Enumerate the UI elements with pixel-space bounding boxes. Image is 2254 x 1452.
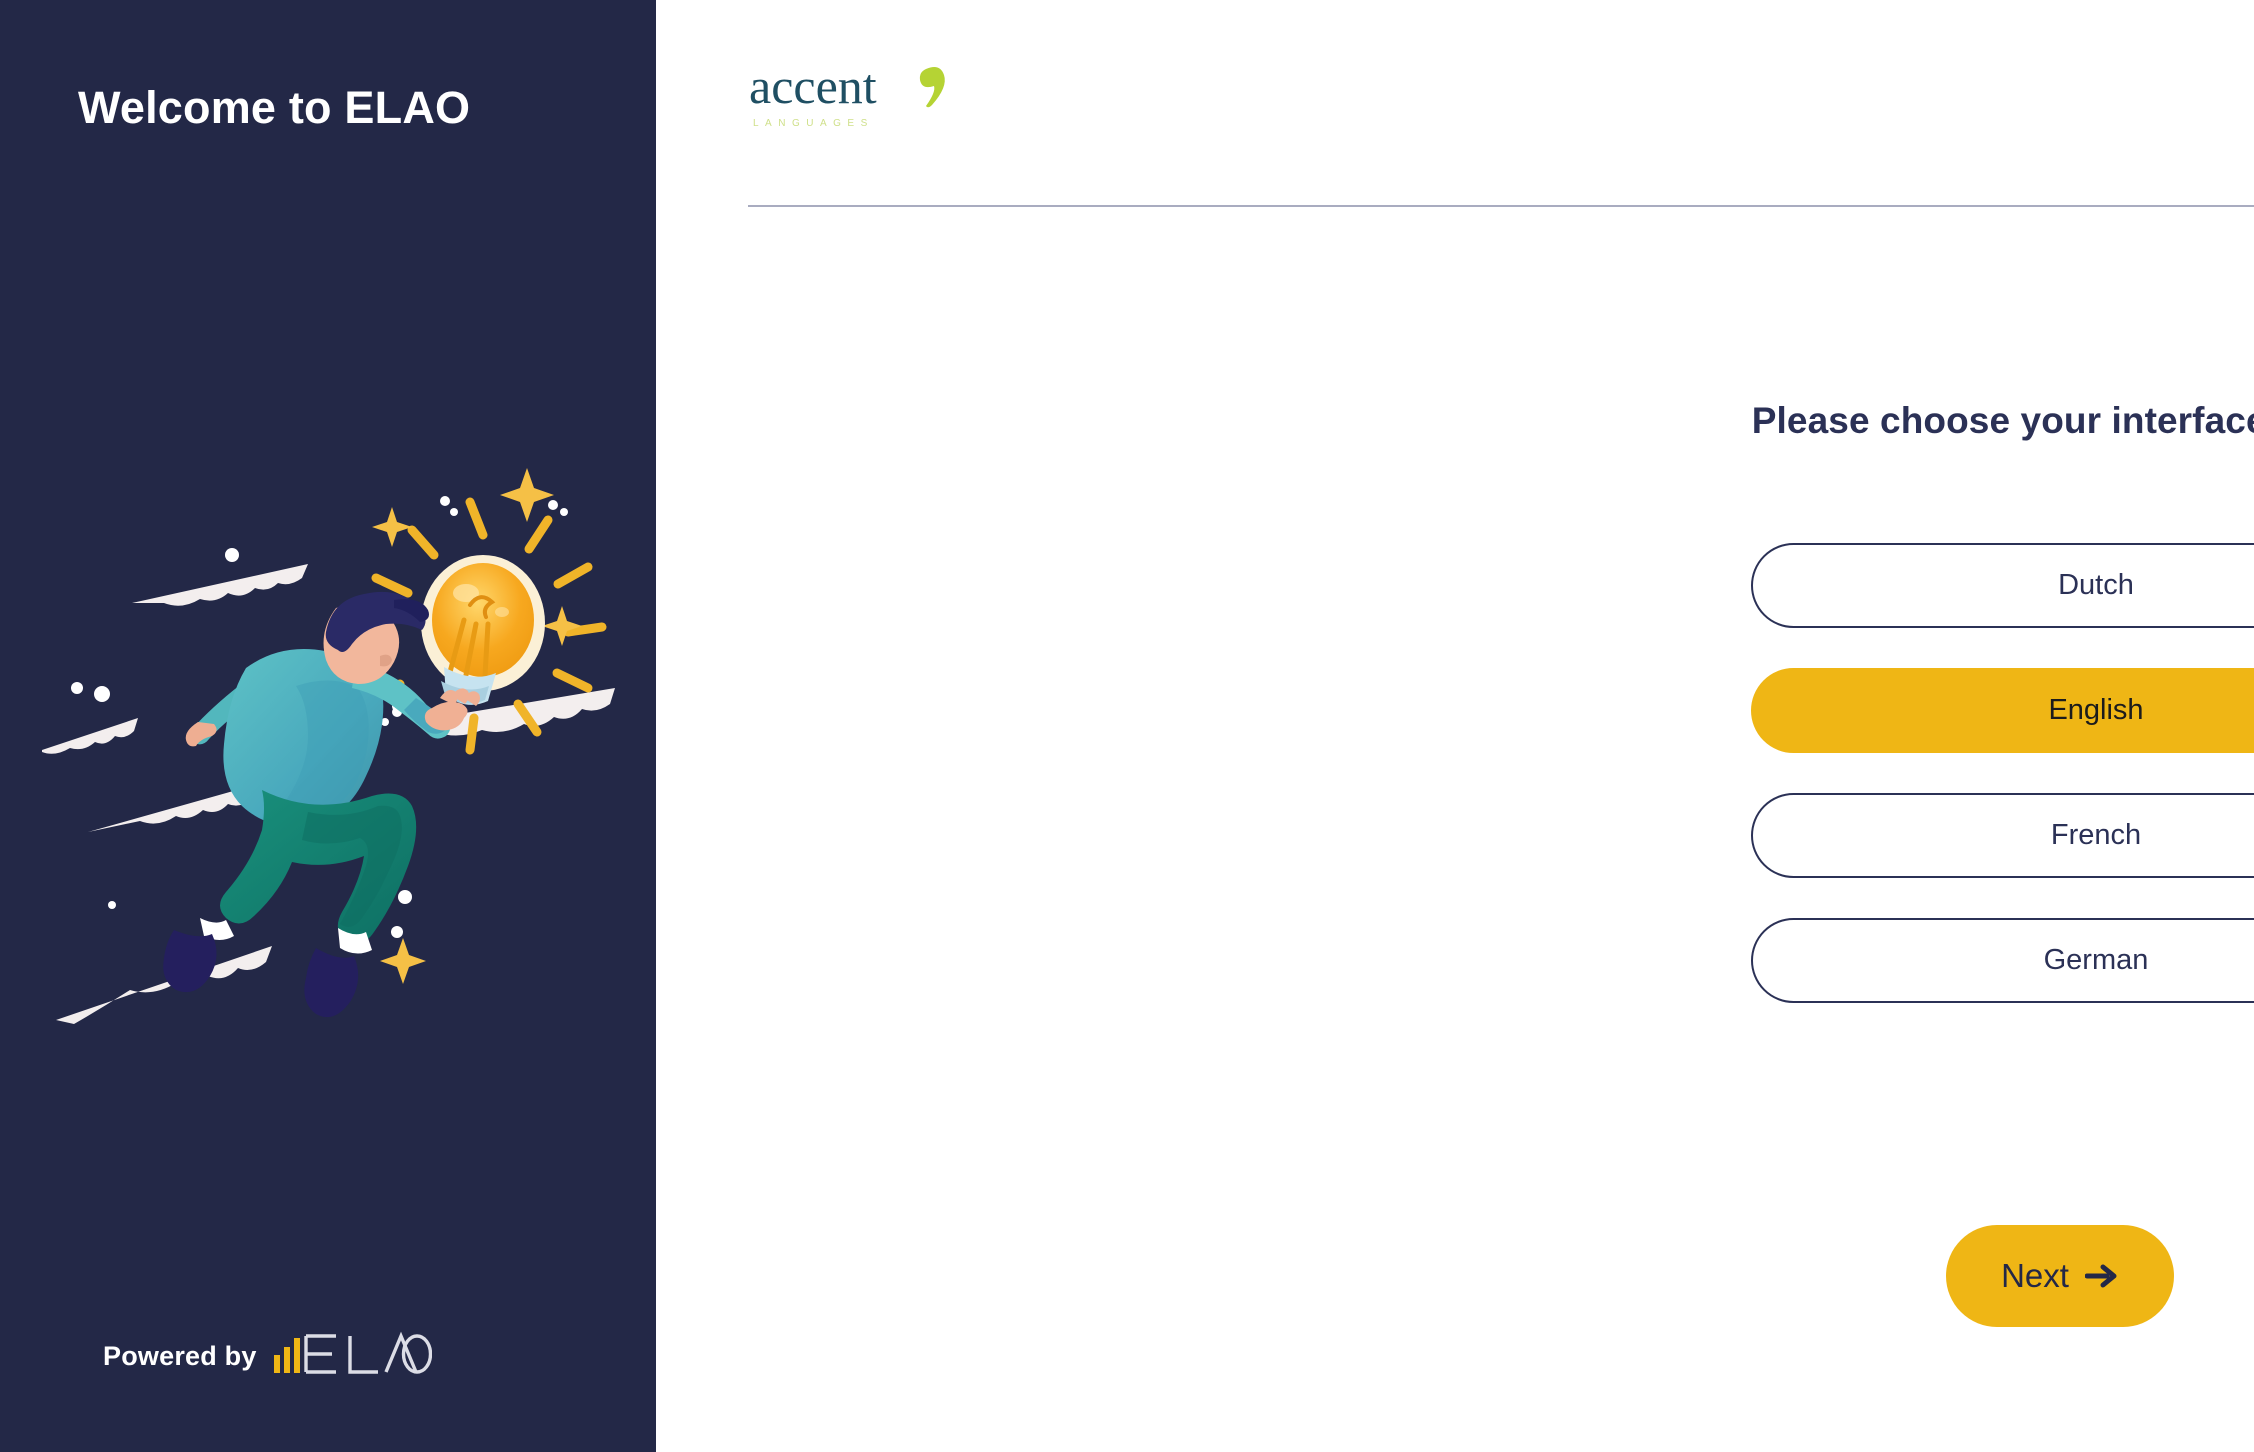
accent-languages-logo: accent LANGUAGES bbox=[749, 55, 959, 135]
header-divider bbox=[748, 205, 2254, 207]
arrow-right-icon bbox=[2085, 1261, 2119, 1291]
language-option-french[interactable]: French bbox=[1751, 793, 2254, 878]
main-panel: accent LANGUAGES Please choose your inte… bbox=[656, 0, 2254, 1452]
language-option-dutch[interactable]: Dutch bbox=[1751, 543, 2254, 628]
apostrophe-mark bbox=[920, 67, 945, 107]
brand-wordmark: accent bbox=[749, 58, 877, 114]
powered-by-label: Powered by bbox=[103, 1341, 257, 1372]
language-option-list: Dutch English French German bbox=[1751, 543, 2254, 1003]
next-button[interactable]: Next bbox=[1946, 1225, 2174, 1327]
powered-by: Powered by bbox=[103, 1331, 432, 1382]
language-selection-screen: Welcome to ELAO bbox=[0, 0, 2254, 1452]
person-reaching-lightbulb-illustration bbox=[40, 460, 620, 1040]
lightbulb-icon bbox=[421, 555, 545, 705]
page-title: Welcome to ELAO bbox=[78, 82, 470, 134]
elao-logo bbox=[274, 1331, 432, 1382]
language-option-english[interactable]: English bbox=[1751, 668, 2254, 753]
language-chooser: Please choose your interface language Du… bbox=[656, 400, 2254, 442]
chooser-heading: Please choose your interface language bbox=[1751, 400, 2254, 442]
next-button-label: Next bbox=[2001, 1257, 2069, 1295]
sidebar: Welcome to ELAO bbox=[0, 0, 656, 1452]
brand-tagline: LANGUAGES bbox=[753, 118, 874, 129]
language-option-german[interactable]: German bbox=[1751, 918, 2254, 1003]
